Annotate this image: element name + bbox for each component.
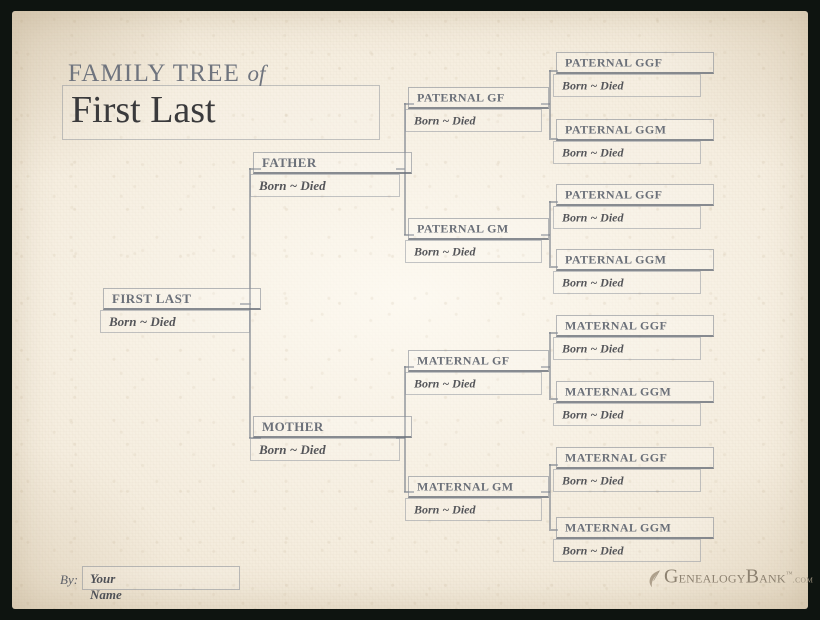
connector-mgf-ggp-vertical [549, 332, 551, 398]
ggp-3-dates-box[interactable]: Born ~ Died [553, 206, 701, 229]
ggp-5-name-box[interactable]: MATERNAL GGF [556, 315, 714, 337]
ggp-5-name-label: MATERNAL GGF [565, 318, 667, 333]
ggp-4-name-box[interactable]: PATERNAL GGM [556, 249, 714, 271]
chart-title-of-word: of [248, 61, 266, 86]
logo-domain: .COM [793, 576, 814, 585]
mother-dates-box[interactable]: Born ~ Died [250, 438, 400, 461]
paternal-gf-dates-box[interactable]: Born ~ Died [405, 109, 542, 132]
ggp-8-name-label: MATERNAL GGM [565, 520, 671, 535]
ggp-4-dates-box[interactable]: Born ~ Died [553, 271, 701, 294]
ggp-1-dates-label: Born ~ Died [562, 78, 624, 93]
paternal-gf-dates-label: Born ~ Died [414, 113, 476, 128]
ggp-2-name-box[interactable]: PATERNAL GGM [556, 119, 714, 141]
maternal-gf-name-label: MATERNAL GF [417, 353, 510, 368]
maternal-gf-dates-box[interactable]: Born ~ Died [405, 372, 542, 395]
ggp-4-dates-label: Born ~ Died [562, 275, 624, 290]
ggp-5-dates-box[interactable]: Born ~ Died [553, 337, 701, 360]
ggp-3-name-box[interactable]: PATERNAL GGF [556, 184, 714, 206]
logo-cap-g: G [664, 566, 679, 588]
paternal-gm-name-label: PATERNAL GM [417, 221, 509, 236]
paternal-gm-dates-label: Born ~ Died [414, 244, 476, 259]
ggp-7-dates-label: Born ~ Died [562, 473, 624, 488]
self-dates-label: Born ~ Died [109, 314, 176, 330]
chart-title-kicker: FAMILY TREE of [68, 60, 265, 88]
paternal-gm-name-box[interactable]: PATERNAL GM [408, 218, 549, 240]
ggp-4-name-label: PATERNAL GGM [565, 252, 666, 267]
chart-title-kicker-text: FAMILY TREE [68, 60, 240, 87]
ggp-3-dates-label: Born ~ Died [562, 210, 624, 225]
ggp-6-dates-box[interactable]: Born ~ Died [553, 403, 701, 426]
maternal-gm-dates-box[interactable]: Born ~ Died [405, 498, 542, 521]
paternal-gm-dates-box[interactable]: Born ~ Died [405, 240, 542, 263]
maternal-gf-dates-label: Born ~ Died [414, 376, 476, 391]
ggp-6-name-box[interactable]: MATERNAL GGM [556, 381, 714, 403]
ggp-1-dates-box[interactable]: Born ~ Died [553, 74, 701, 97]
ggp-1-name-label: PATERNAL GGF [565, 55, 662, 70]
maternal-gm-name-label: MATERNAL GM [417, 479, 514, 494]
father-dates-label: Born ~ Died [259, 178, 326, 194]
trademark-symbol: ™ [786, 570, 793, 578]
maternal-gf-name-box[interactable]: MATERNAL GF [408, 350, 549, 372]
byline-label: By: [60, 572, 78, 588]
logo-wordmark: GenealogyBank™.COM [664, 566, 813, 589]
ggp-6-name-label: MATERNAL GGM [565, 384, 671, 399]
connector-mgm-ggp-vertical [549, 464, 551, 529]
paternal-gf-name-box[interactable]: PATERNAL GF [408, 87, 549, 109]
ggp-1-name-box[interactable]: PATERNAL GGF [556, 52, 714, 74]
ggp-2-name-label: PATERNAL GGM [565, 122, 666, 137]
father-name-box[interactable]: FATHER [253, 152, 412, 174]
mother-dates-label: Born ~ Died [259, 442, 326, 458]
ggp-8-dates-box[interactable]: Born ~ Died [553, 539, 701, 562]
logo-word-ank: ank [759, 568, 786, 587]
chart-subject-name: First Last [71, 86, 216, 134]
ggp-6-dates-label: Born ~ Died [562, 407, 624, 422]
family-tree-chart: FAMILY TREE of First Last FIRST LAST [0, 0, 820, 620]
maternal-gm-name-box[interactable]: MATERNAL GM [408, 476, 549, 498]
maternal-gm-dates-label: Born ~ Died [414, 502, 476, 517]
mother-name-label: MOTHER [262, 419, 324, 435]
genealogybank-logo[interactable]: GenealogyBank™.COM [648, 566, 813, 589]
father-name-label: FATHER [262, 155, 317, 171]
ggp-7-dates-box[interactable]: Born ~ Died [553, 469, 701, 492]
mother-name-box[interactable]: MOTHER [253, 416, 412, 438]
logo-word-enealogy: enealogy [679, 568, 746, 587]
logo-cap-b: B [746, 566, 760, 588]
self-dates-box[interactable]: Born ~ Died [100, 310, 250, 333]
self-name-box[interactable]: FIRST LAST [103, 288, 261, 310]
leaf-icon [648, 569, 662, 589]
ggp-8-name-box[interactable]: MATERNAL GGM [556, 517, 714, 539]
paternal-gf-name-label: PATERNAL GF [417, 90, 505, 105]
ggp-8-dates-label: Born ~ Died [562, 543, 624, 558]
father-dates-box[interactable]: Born ~ Died [250, 174, 400, 197]
ggp-5-dates-label: Born ~ Died [562, 341, 624, 356]
ggp-3-name-label: PATERNAL GGF [565, 187, 662, 202]
ggp-7-name-box[interactable]: MATERNAL GGF [556, 447, 714, 469]
byline-value: Your Name [90, 571, 122, 603]
self-name-label: FIRST LAST [112, 291, 191, 307]
ggp-2-dates-box[interactable]: Born ~ Died [553, 141, 701, 164]
ggp-7-name-label: MATERNAL GGF [565, 450, 667, 465]
ggp-2-dates-label: Born ~ Died [562, 145, 624, 160]
